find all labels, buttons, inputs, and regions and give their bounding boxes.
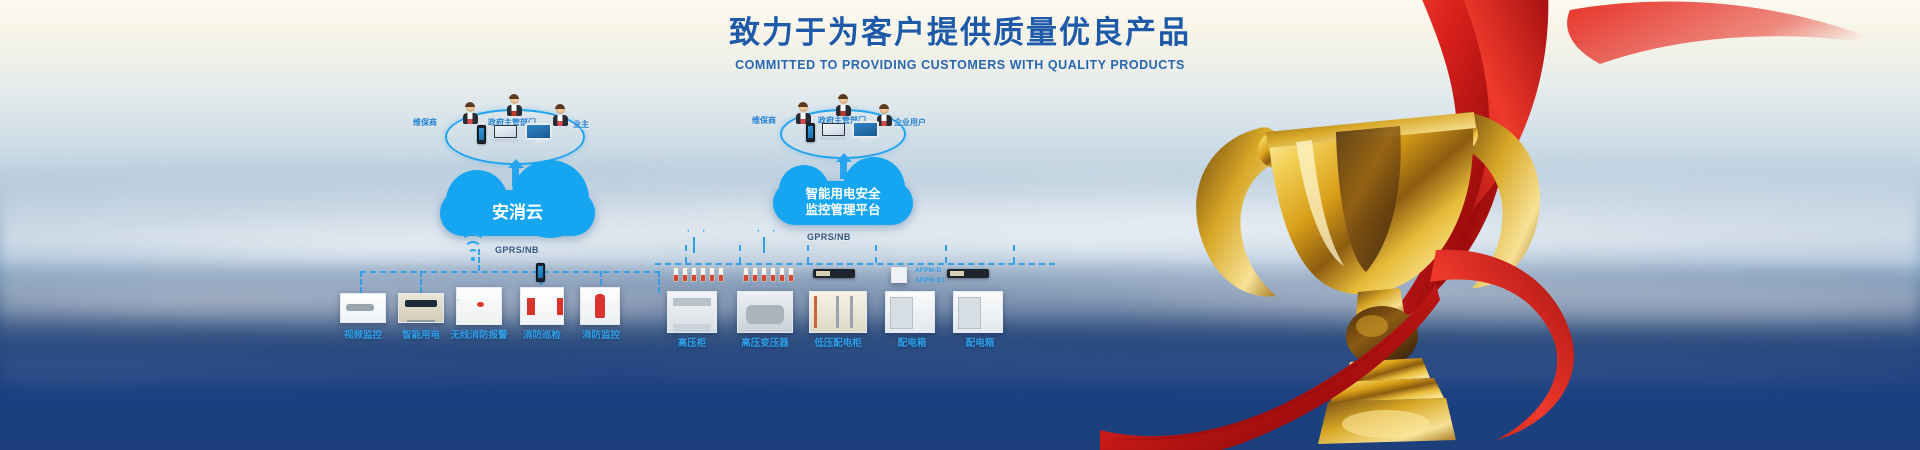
drop-line [875,245,877,263]
person-government [505,95,523,116]
drop-line [360,271,362,293]
monitor-icon [852,121,879,142]
headline-block: 致力于为客户提供质量优良产品 COMMITTED TO PROVIDING CU… [0,14,1920,72]
gprs-label: GPRS/NB [807,232,851,242]
bus-line [655,263,1055,265]
equipment-thumb-2 [809,291,867,333]
module-tag-1: AFPM-D1 [915,277,945,284]
equipment-thumb-0 [340,293,386,323]
right-system-diagram: 维保商 政府主管部门 企业用户 智能用电安全 监控管理平台 GPRS/NB [745,95,1075,415]
role-label-2: 业主 [573,119,589,130]
meter-device [813,269,855,278]
phone-icon [536,263,545,282]
equipment-thumb-2 [456,287,502,325]
role-label-0: 维保商 [413,117,437,128]
equipment-label-3: 消防巡检 [511,327,573,341]
drop-line [1013,245,1015,263]
module-tag-0: AFPM-D [915,267,941,274]
person-owner [551,105,569,126]
role-label-2: 企业用户 [894,117,926,128]
equipment-label-3: 配电箱 [881,335,943,349]
equipment-thumb-3 [520,287,564,325]
equipment-label-0: 视频监控 [332,327,394,341]
headline-chinese: 致力于为客户提供质量优良产品 [0,14,1920,53]
fuse-row [743,267,794,282]
equipment-label-4: 消防监控 [570,327,632,341]
equipment-thumb-1 [398,293,444,323]
equipment-label-4: 配电箱 [949,335,1011,349]
drop-line [739,245,741,263]
right-cloud-label-line2: 监控管理平台 [805,203,880,217]
trophy-base-gloss [1342,410,1430,438]
fuse-row [673,267,724,282]
left-user-ring: 维保商 政府主管部门 业主 [445,95,585,157]
signal-icon [460,243,486,261]
monitor-icon [525,123,552,144]
equipment-thumb-4 [953,291,1003,333]
drop-line [478,249,480,271]
trophy-knob-gloss [1356,315,1388,337]
equipment-label-0: 高压柜 [661,335,723,349]
equipment-label-1: 高压变压器 [729,335,801,349]
laptop-icon [492,125,518,143]
laptop-icon [820,123,846,141]
drop-line [420,271,422,293]
person-maintenance [794,103,812,124]
left-cloud-label: 安消云 [492,202,543,223]
right-user-ring: 维保商 政府主管部门 企业用户 [780,95,906,153]
promo-banner: 致力于为客户提供质量优良产品 COMMITTED TO PROVIDING CU… [0,0,1920,450]
person-government [834,95,852,116]
drop-line [807,245,809,263]
gprs-label: GPRS/NB [495,245,539,255]
antenna-icon [693,237,695,253]
meter-device [947,269,989,278]
left-system-diagram: 维保商 政府主管部门 业主 安消云 GPRS/NB [400,95,690,415]
right-cloud-label-line1: 智能用电安全 [805,187,880,201]
drop-line [658,271,660,293]
headline-english: COMMITTED TO PROVIDING CUSTOMERS WITH QU… [0,58,1920,72]
drop-line [945,245,947,263]
equipment-label-2: 低压配电柜 [802,335,874,349]
drop-line [685,245,687,263]
equipment-label-2: 无线消防报警 [442,327,516,341]
right-cloud-node: 智能用电安全 监控管理平台 [773,181,913,225]
equipment-thumb-3 [885,291,935,333]
equipment-thumb-1 [737,291,793,333]
equipment-thumb-0 [667,291,717,333]
module-device [891,267,907,283]
phone-icon [477,125,486,144]
ribbon-front-sweep [1430,250,1574,440]
phone-icon [806,123,815,142]
antenna-icon [763,237,765,253]
left-cloud-node: 安消云 [440,190,595,236]
person-maintenance [461,103,479,124]
role-label-0: 维保商 [752,115,776,126]
equipment-thumb-4 [580,287,620,325]
bus-line [360,271,660,273]
